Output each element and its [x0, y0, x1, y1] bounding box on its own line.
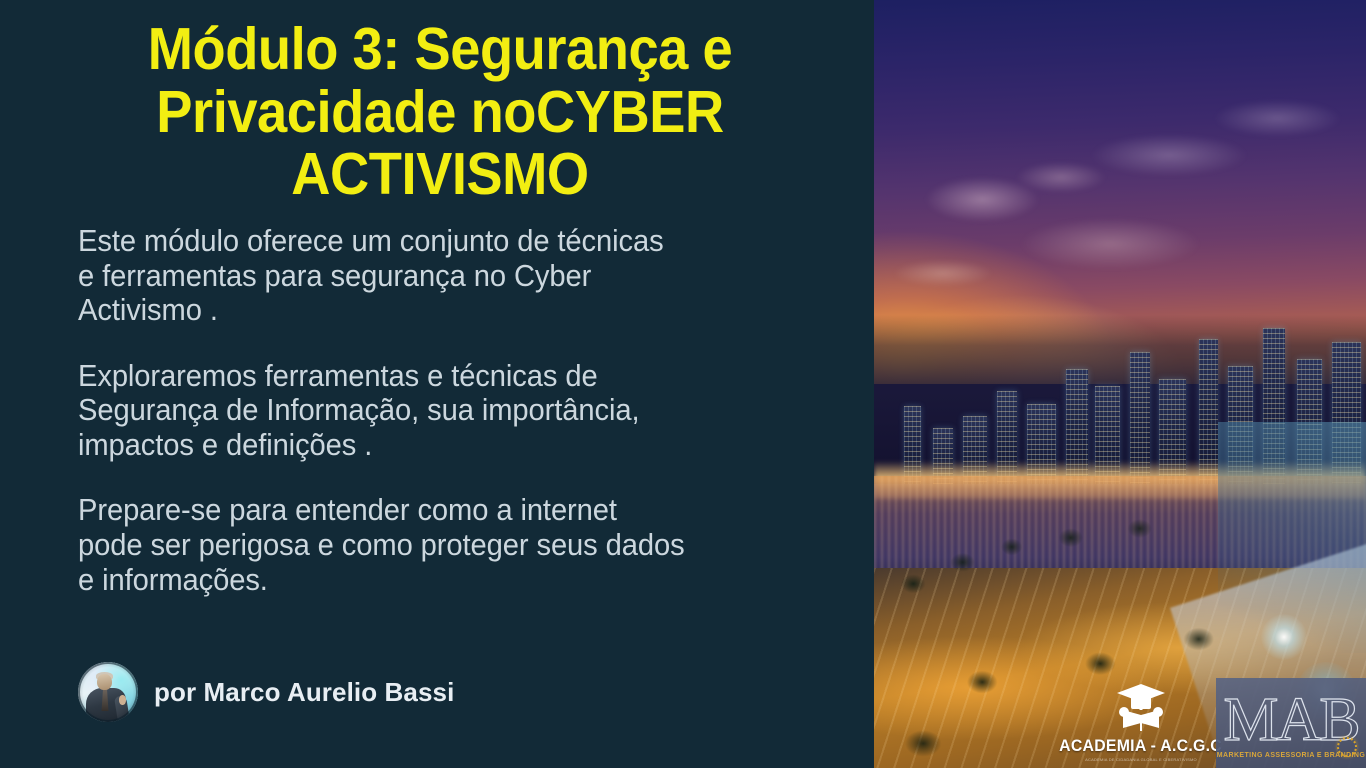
- slide-title: Módulo 3: Segurança e Privacidade noCYBE…: [72, 18, 808, 206]
- paragraph-1: Este módulo oferece um conjunto de técni…: [78, 224, 802, 328]
- cityscape-photo: ACADEMIA - A.C.G.C ACADEMIA DE CIDADANIA…: [874, 0, 1366, 768]
- byline-author-name: por Marco Aurelio Bassi: [154, 677, 454, 708]
- left-text-panel: Módulo 3: Segurança e Privacidade noCYBE…: [0, 0, 874, 768]
- logo-academia-subtitle: ACADEMIA DE CIDADANIA GLOBAL E CIBERATIV…: [1085, 757, 1197, 762]
- slide-body: Este módulo oferece um conjunto de técni…: [78, 224, 848, 597]
- paragraph-3: Prepare-se para entender como a internet…: [78, 493, 802, 597]
- logo-academia: ACADEMIA - A.C.G.C ACADEMIA DE CIDADANIA…: [1066, 678, 1216, 768]
- logo-academia-label: ACADEMIA - A.C.G.C: [1060, 736, 1223, 756]
- byline: por Marco Aurelio Bassi: [78, 662, 454, 722]
- slide-root: Módulo 3: Segurança e Privacidade noCYBE…: [0, 0, 1366, 768]
- avatar-ring: [78, 662, 138, 722]
- paragraph-2: Exploraremos ferramentas e técnicas de S…: [78, 359, 802, 463]
- avatar: [78, 662, 138, 722]
- graduation-cap-book-icon: [1113, 682, 1169, 734]
- logo-mab: MAB MARKETING ASSESSORIA E BRANDING: [1216, 678, 1366, 768]
- logo-group: ACADEMIA - A.C.G.C ACADEMIA DE CIDADANIA…: [1066, 678, 1366, 768]
- laurel-wreath-icon: [1337, 737, 1357, 757]
